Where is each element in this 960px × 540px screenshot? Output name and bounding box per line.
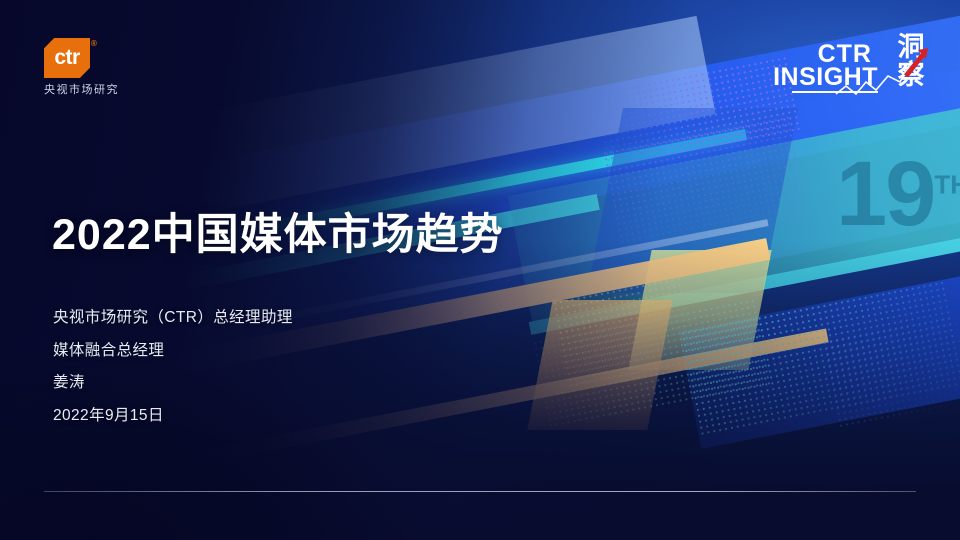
ctr-logo-mark-text: ctr [44, 47, 90, 68]
presenter-line-1: 央视市场研究（CTR）总经理助理 [53, 310, 293, 326]
presentation-date: 2022年9月15日 [53, 408, 293, 424]
ctr-logo-mark: ctr [44, 38, 90, 78]
registered-trademark-icon: ® [91, 39, 97, 48]
presenter-info: 央视市场研究（CTR）总经理助理 媒体融合总经理 姜涛 2022年9月15日 [53, 310, 293, 440]
presenter-line-2: 媒体融合总经理 [53, 343, 293, 359]
ctr-logo-chinese-name: 央视市场研究 [44, 81, 119, 97]
presenter-name: 姜涛 [53, 375, 293, 391]
page-title: 2022中国媒体市场趋势 [52, 200, 504, 262]
ctr-insight-logo: CTR INSIGHT 洞察 [784, 32, 934, 104]
presentation-title-slide: 19TH ctr ® 央视市场研究 CTR INSIGHT 洞察 2022中国媒… [0, 0, 960, 540]
chart-line-icon [784, 32, 934, 104]
divider-line [44, 491, 916, 492]
ctr-logo: ctr ® 央视市场研究 [44, 38, 119, 97]
